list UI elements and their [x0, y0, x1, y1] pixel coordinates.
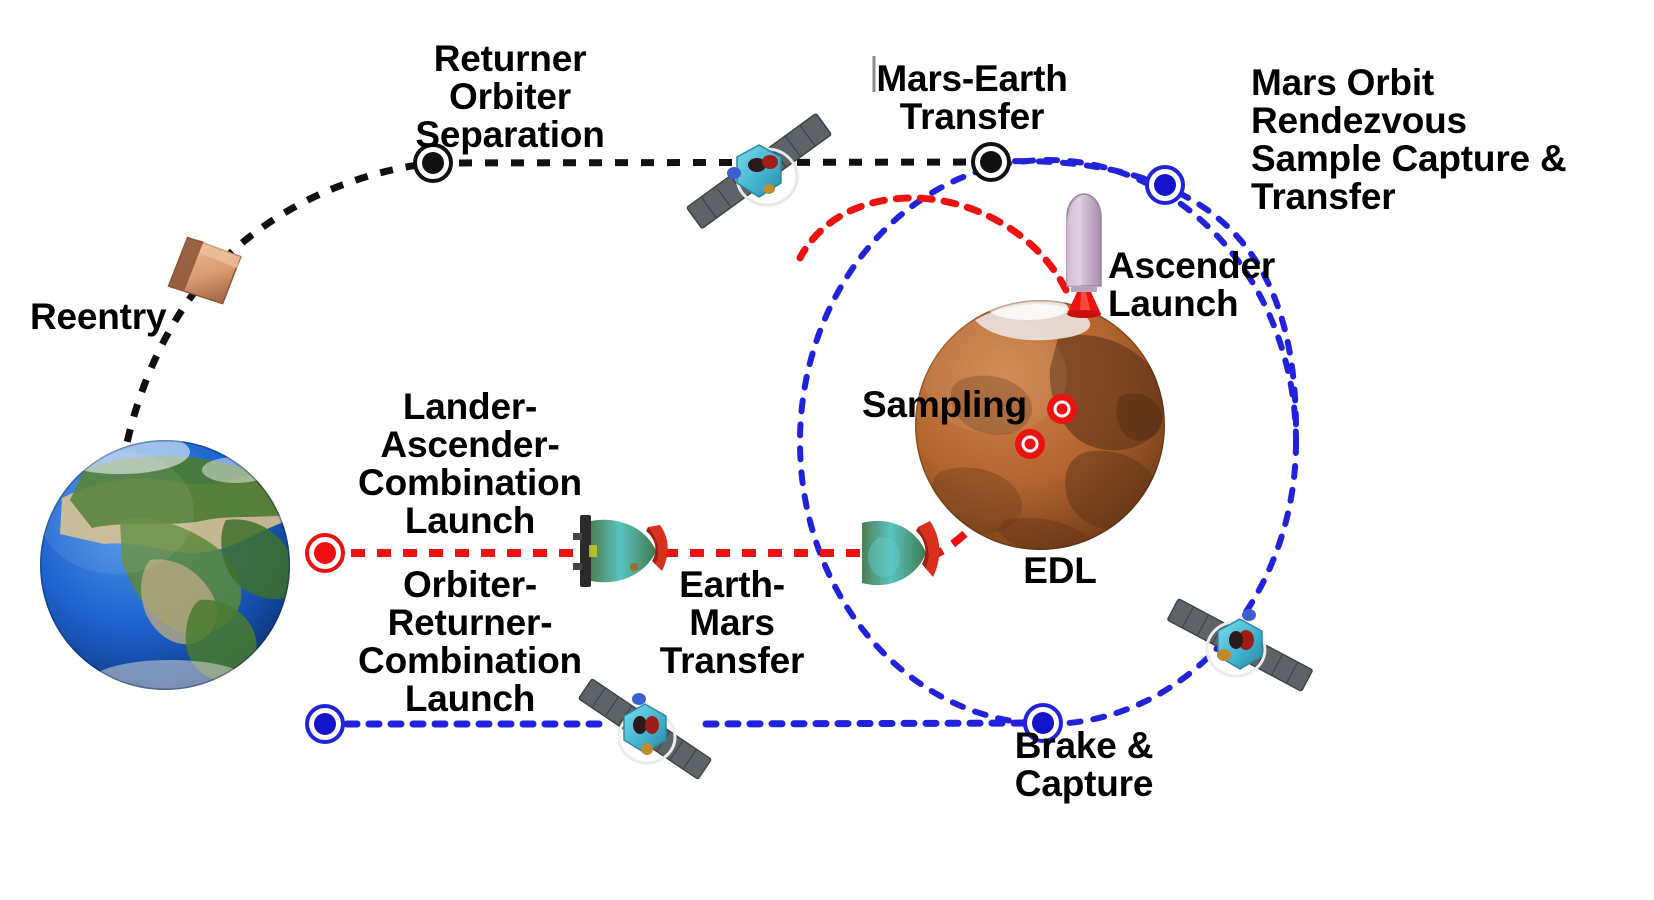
label-orbiter-returner-combination-launch: Orbiter- Returner- Combination Launch [340, 566, 600, 718]
marker-lander-ascender-launch[interactable] [307, 535, 343, 571]
label-mars-orbit-rendezvous: Mars Orbit Rendezvous Sample Capture & T… [1251, 64, 1651, 216]
mission-diagram-canvas: Returner Orbiter Separation Mars-Earth T… [0, 0, 1654, 900]
label-sampling: Sampling [862, 386, 1102, 424]
label-reentry: Reentry [30, 298, 250, 336]
mars-globe [915, 296, 1165, 556]
label-returner-orbiter-separation: Returner Orbiter Separation [410, 40, 610, 154]
returner-orbiter-spacecraft [687, 113, 832, 228]
orbiter-returner-launch-path [325, 723, 1043, 724]
label-lander-ascender-combination-launch: Lander- Ascender- Combination Launch [340, 388, 600, 540]
marker-mars-earth-transfer[interactable] [973, 144, 1009, 180]
marker-orbiter-returner-launch[interactable] [307, 706, 343, 742]
label-ascender-launch: Ascender Launch [1108, 247, 1368, 323]
label-brake-and-capture: Brake & Capture [994, 727, 1174, 803]
earth-globe [38, 430, 300, 704]
mars-earth-transfer-path [433, 162, 991, 163]
label-earth-mars-transfer: Earth- Mars Transfer [642, 566, 822, 680]
ascender-rocket [1067, 194, 1101, 318]
label-edl: EDL [1000, 552, 1120, 590]
label-mars-earth-transfer: Mars-Earth Transfer [872, 60, 1072, 136]
marker-mars-orbit-rendezvous[interactable] [1147, 167, 1183, 203]
marker-sampling-site-b[interactable] [1015, 429, 1045, 459]
edl-aeroshell [862, 521, 939, 585]
